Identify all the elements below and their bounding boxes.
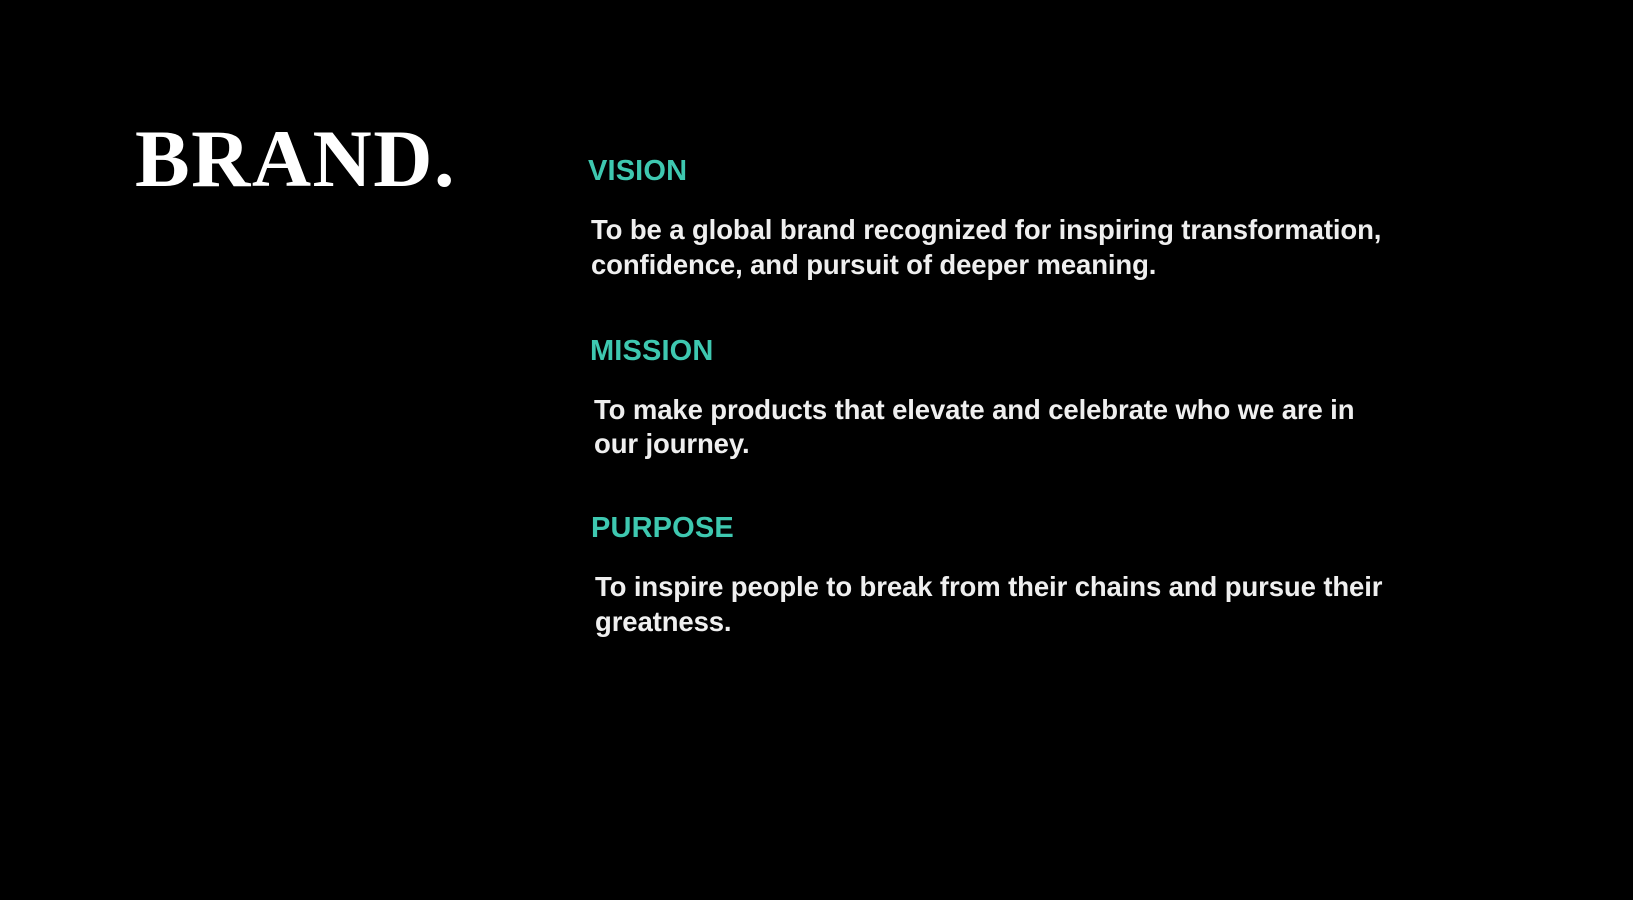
- section-heading-vision: VISION: [588, 155, 1468, 188]
- section-purpose: PURPOSE To inspire people to break from …: [588, 512, 1468, 639]
- brand-logo-block: BRAND.: [135, 118, 555, 200]
- section-vision: VISION To be a global brand recognized f…: [588, 155, 1468, 283]
- section-body-mission: To make products that elevate and celebr…: [588, 393, 1394, 463]
- section-body-vision: To be a global brand recognized for insp…: [588, 213, 1391, 283]
- statements-column: VISION To be a global brand recognized f…: [588, 155, 1468, 640]
- brand-statement-slide: BRAND. VISION To be a global brand recog…: [0, 0, 1633, 900]
- section-heading-purpose: PURPOSE: [588, 512, 1468, 545]
- section-mission: MISSION To make products that elevate an…: [588, 335, 1468, 462]
- section-body-purpose: To inspire people to break from their ch…: [588, 570, 1395, 640]
- section-heading-mission: MISSION: [588, 335, 1468, 368]
- brand-wordmark: BRAND.: [135, 118, 555, 200]
